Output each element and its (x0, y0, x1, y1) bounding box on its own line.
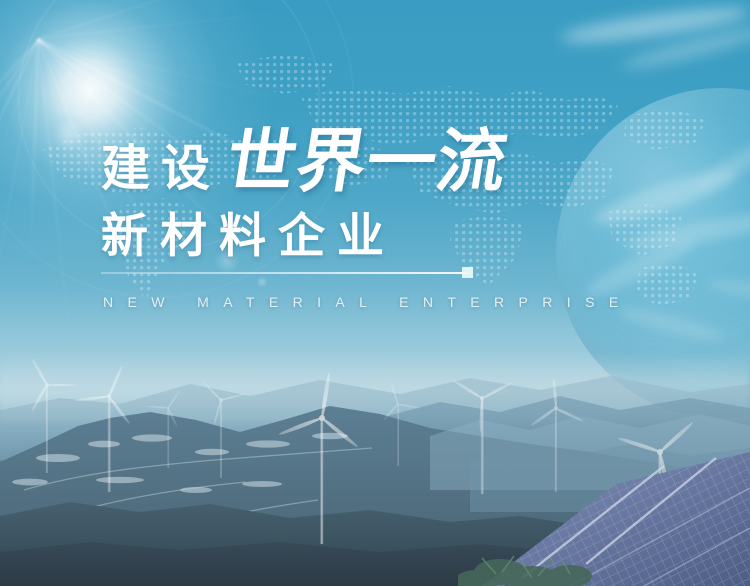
headline-block: 建设 世界一流 新材料企业 NEW MATERIAL ENTERPRISE (0, 0, 750, 586)
banner-hero: 建设 世界一流 新材料企业 NEW MATERIAL ENTERPRISE (0, 0, 750, 586)
headline-line-1: 建设 世界一流 (101, 128, 507, 197)
headline-emphasis: 世界一流 (222, 128, 513, 197)
subheadline: 新材料企业 (101, 213, 396, 260)
horizontal-rule-icon (101, 272, 469, 274)
headline-prefix: 建设 (101, 144, 221, 193)
english-tagline: NEW MATERIAL ENTERPRISE (103, 294, 633, 310)
rule-end-cap-icon (462, 267, 473, 278)
